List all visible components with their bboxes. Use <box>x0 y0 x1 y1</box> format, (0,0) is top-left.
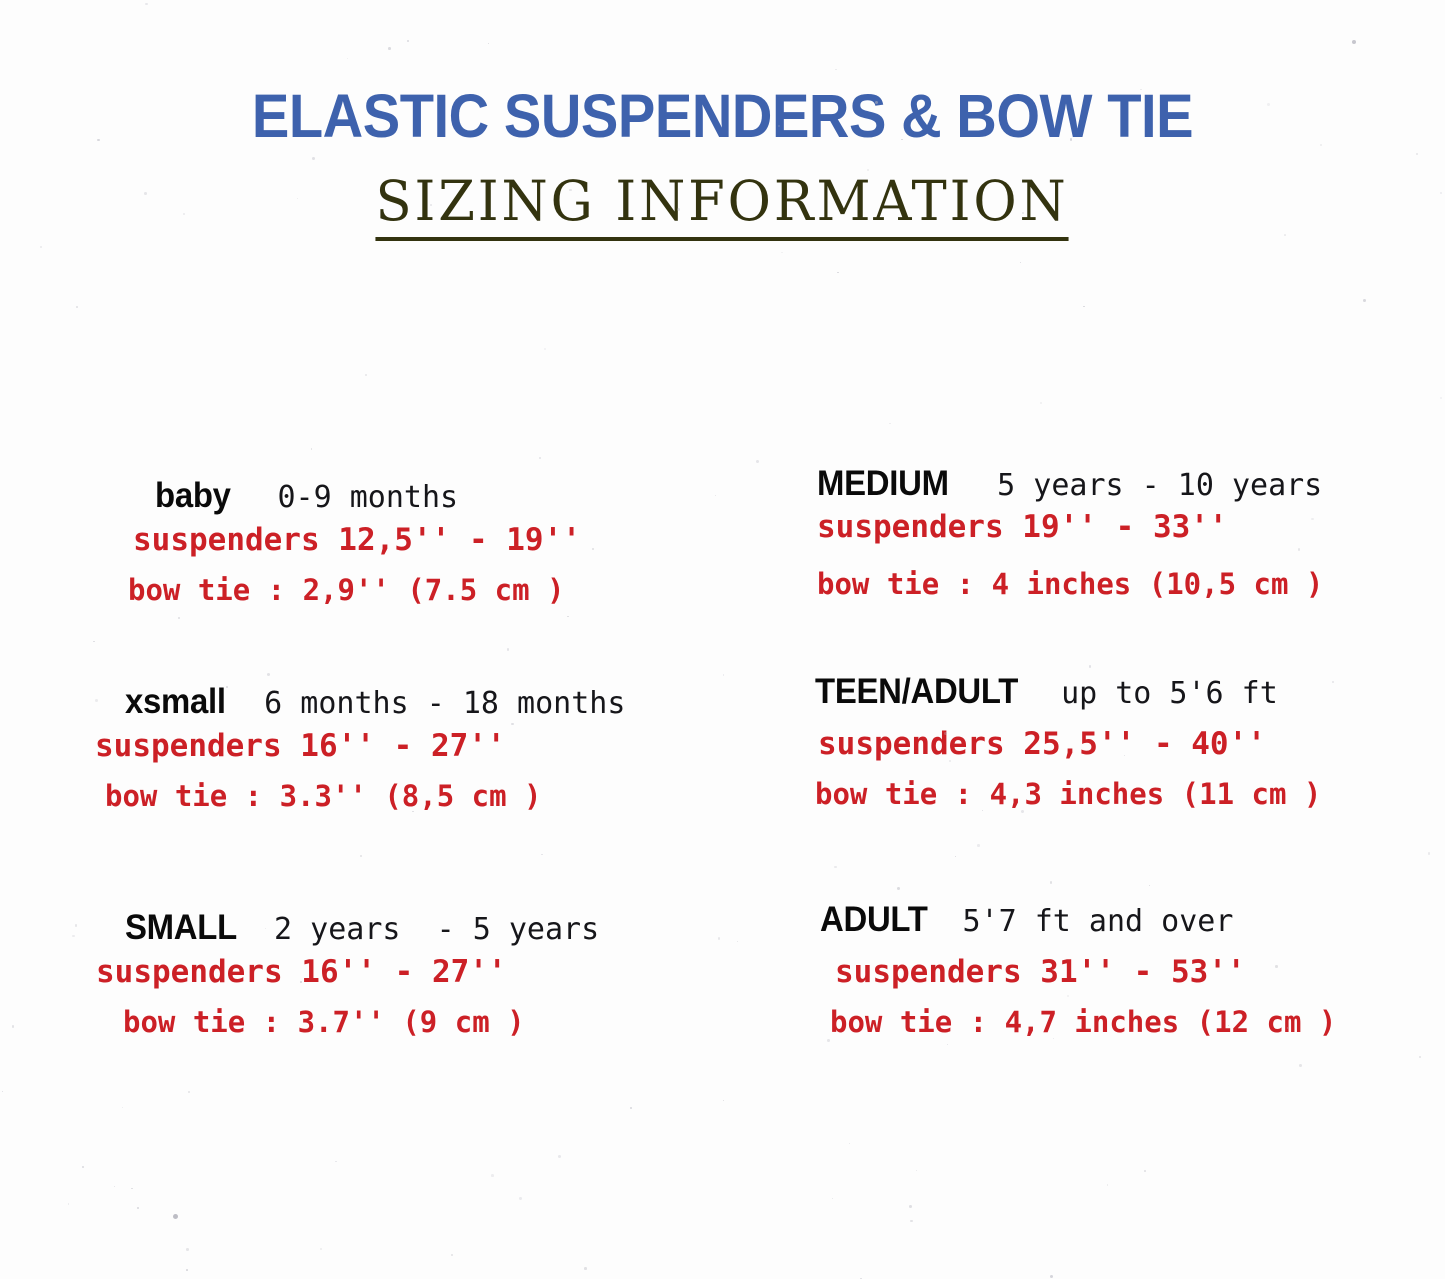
page-title: ELASTIC SUSPENDERS & BOW TIE <box>58 86 1387 147</box>
size-label: ADULT <box>820 900 928 940</box>
size-entry-baby: baby 0-9 months suspenders 12,5'' - 19''… <box>70 476 730 607</box>
bowtie-spec: bow tie : 2,9'' (7.5 cm ) <box>70 573 730 607</box>
page-subtitle: SIZING INFORMATION <box>376 173 1069 241</box>
suspenders-spec: suspenders 12,5'' - 19'' <box>70 522 730 558</box>
size-entry-adult: ADULT 5'7 ft and over suspenders 31'' - … <box>790 900 1445 1039</box>
entry-head: MEDIUM 5 years - 10 years <box>790 464 1445 504</box>
entry-head: ADULT 5'7 ft and over <box>790 900 1445 940</box>
bowtie-spec: bow tie : 3.7'' (9 cm ) <box>70 1005 730 1039</box>
entry-head: baby 0-9 months <box>70 476 730 516</box>
sizing-chart-sheet: ELASTIC SUSPENDERS & BOW TIE SIZING INFO… <box>0 0 1445 1278</box>
size-label: TEEN/ADULT <box>815 672 1018 712</box>
size-entry-medium: MEDIUM 5 years - 10 years suspenders 19'… <box>790 464 1445 601</box>
suspenders-spec: suspenders 19'' - 33'' <box>790 509 1445 545</box>
entry-head: SMALL 2 years - 5 years <box>70 908 730 948</box>
suspenders-spec: suspenders 16'' - 27'' <box>70 728 730 764</box>
age-range: 0-9 months <box>278 480 459 515</box>
entry-head: xsmall 6 months - 18 months <box>70 682 730 722</box>
age-range: 5 years - 10 years <box>997 468 1322 503</box>
size-label: MEDIUM <box>817 464 949 504</box>
bowtie-spec: bow tie : 4,7 inches (12 cm ) <box>790 1005 1445 1039</box>
chart-header: ELASTIC SUSPENDERS & BOW TIE SIZING INFO… <box>0 86 1445 241</box>
size-label: SMALL <box>125 908 237 948</box>
suspenders-spec: suspenders 25,5'' - 40'' <box>790 726 1445 762</box>
suspenders-spec: suspenders 31'' - 53'' <box>790 954 1445 990</box>
age-range: up to 5'6 ft <box>1061 676 1278 711</box>
age-range: 6 months - 18 months <box>264 686 625 721</box>
size-entry-small: SMALL 2 years - 5 years suspenders 16'' … <box>70 908 730 1039</box>
age-range: 2 years - 5 years <box>274 912 599 947</box>
size-label: baby <box>155 476 231 516</box>
bowtie-spec: bow tie : 4 inches (10,5 cm ) <box>790 567 1445 601</box>
size-entry-teen-adult: TEEN/ADULT up to 5'6 ft suspenders 25,5'… <box>790 672 1445 811</box>
size-entry-xsmall: xsmall 6 months - 18 months suspenders 1… <box>70 682 730 813</box>
size-label: xsmall <box>125 682 226 722</box>
suspenders-spec: suspenders 16'' - 27'' <box>70 954 730 990</box>
subtitle-row: SIZING INFORMATION <box>0 173 1445 241</box>
age-range: 5'7 ft and over <box>963 904 1234 939</box>
bowtie-spec: bow tie : 3.3'' (8,5 cm ) <box>70 779 730 813</box>
entry-head: TEEN/ADULT up to 5'6 ft <box>790 672 1445 712</box>
bowtie-spec: bow tie : 4,3 inches (11 cm ) <box>790 777 1445 811</box>
